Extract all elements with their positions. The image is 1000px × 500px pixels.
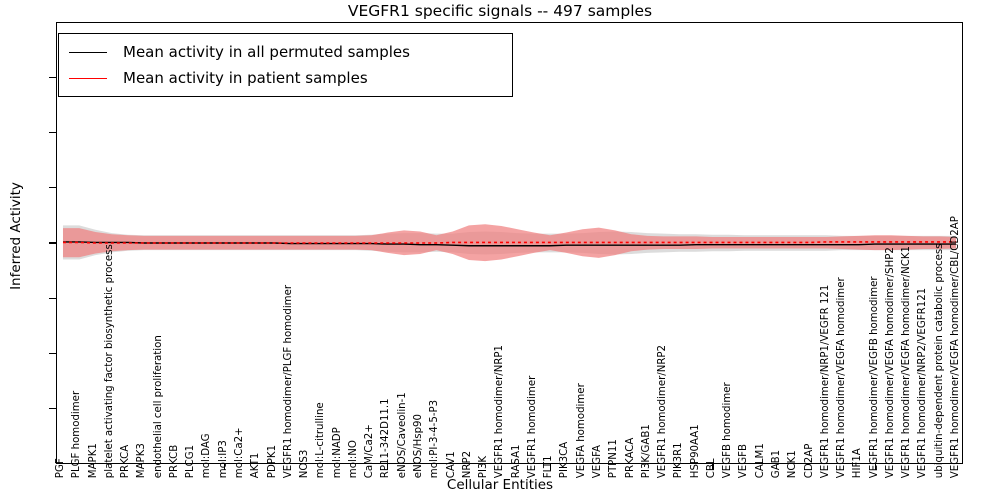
legend-entry-permuted: Mean activity in all permuted samples (69, 39, 512, 65)
x-tick-label: mol:IP3 (219, 440, 229, 478)
x-tick-label: platelet activating factor biosynthetic … (105, 244, 115, 478)
x-tick-label: PIK3CA (560, 442, 570, 478)
x-tick-label: VEGFB homodimer (723, 382, 733, 478)
legend-line-patient (69, 78, 107, 79)
x-tick-label: VEGFR1 homodimer/VEGFA homodimer/CBL/CD2… (951, 216, 961, 478)
x-tick-label: VEGFR1 homodimer/PLGF homodimer (284, 285, 294, 478)
x-tick-label: mol:PI-3-4-5-P3 (430, 400, 440, 478)
x-tick-label: mol:NADP (332, 427, 342, 478)
x-tick-label: MAPK1 (88, 443, 98, 478)
x-tick-label: mol:L-citrulline (316, 402, 326, 478)
legend-label-permuted: Mean activity in all permuted samples (123, 43, 410, 61)
x-tick-label: eNOS/Caveolin-1 (398, 392, 408, 478)
x-tick-label: HSP90AA1 (690, 424, 700, 478)
x-tick-label: RP11-342D11.1 (381, 398, 391, 478)
x-tick-label: PGF (56, 458, 66, 478)
x-tick-label: NCK1 (788, 450, 798, 478)
x-tick-label: mol:DAG (202, 433, 212, 478)
x-tick-label: RASA1 (511, 444, 521, 478)
legend-entry-patient: Mean activity in patient samples (69, 65, 512, 91)
x-tick-label: VEGFR1 homodimer/VEGFA homodimer/NCK1 (902, 246, 912, 478)
x-tick-label: CALM1 (756, 443, 766, 478)
x-tick-label: NRP2 (463, 451, 473, 478)
x-tick-label: VEGFR1 homodimer/VEGFA homodimer/SHP2 (886, 247, 896, 478)
chart-legend: Mean activity in all permuted samples Me… (58, 33, 513, 97)
x-tick-label: MAPK3 (137, 443, 147, 478)
x-tick-label: PLCG1 (186, 445, 196, 478)
x-tick-label: VEGFR1 homodimer/NRP2 (658, 345, 668, 478)
x-tick-label: VEGFR1 homodimer (528, 376, 538, 478)
x-tick-label: CBL (707, 458, 717, 478)
x-tick-label: GAB1 (772, 450, 782, 478)
x-tick-label: CaM/Ca2+ (365, 424, 375, 478)
x-tick-label: CD2AP (804, 444, 814, 479)
x-tick-label: endothelial cell proliferation (153, 335, 163, 478)
x-tick-label: ubiquitin-dependent protein catabolic pr… (935, 244, 945, 479)
x-tick-label: VEGFA homodimer (577, 383, 587, 478)
x-tick-label: PI3K/GAB1 (642, 424, 652, 478)
x-tick-label: PRKACA (625, 438, 635, 479)
x-tick-label: AKT1 (251, 453, 261, 479)
x-tick-label: mol:Ca2+ (235, 427, 245, 478)
x-tick-label: PIK3R1 (674, 442, 684, 478)
x-tick-label: VEGFR1 homodimer/VEGFB homodimer (869, 276, 879, 478)
x-tick-label: HIF1A (853, 448, 863, 478)
legend-label-patient: Mean activity in patient samples (123, 69, 368, 87)
x-tick-label: VEGFR1 homodimer/VEGFA homodimer (837, 277, 847, 478)
legend-line-permuted (69, 52, 107, 53)
x-tick-label: PRKCA (121, 445, 131, 478)
x-tick-label: VEGFA (593, 445, 603, 478)
x-tick-label: VEGFR1 homodimer/NRP1/VEGFR 121 (821, 285, 831, 479)
x-tick-label: VEGFB (739, 444, 749, 478)
x-tick-label: NOS3 (300, 450, 310, 479)
x-tick-label: FLT1 (544, 455, 554, 478)
x-tick-label: PI3K (479, 456, 489, 478)
x-tick-label: eNOS/Hsp90 (414, 414, 424, 478)
x-tick-label: CAV1 (446, 451, 456, 478)
x-tick-label: PDPK1 (267, 445, 277, 478)
x-tick-label: PRKCB (170, 445, 180, 478)
x-tick-label: VEGFR1 homodimer/NRP2/VEGFR121 (918, 288, 928, 478)
chart-figure: VEGFR1 specific signals -- 497 samples I… (0, 0, 1000, 500)
x-tick-label: PLGF homodimer (72, 391, 82, 478)
x-tick-label: PTPN11 (609, 439, 619, 478)
x-tick-label: VEGFR1 homodimer/NRP1 (495, 345, 505, 478)
x-tick-label: mol:NO (349, 440, 359, 478)
